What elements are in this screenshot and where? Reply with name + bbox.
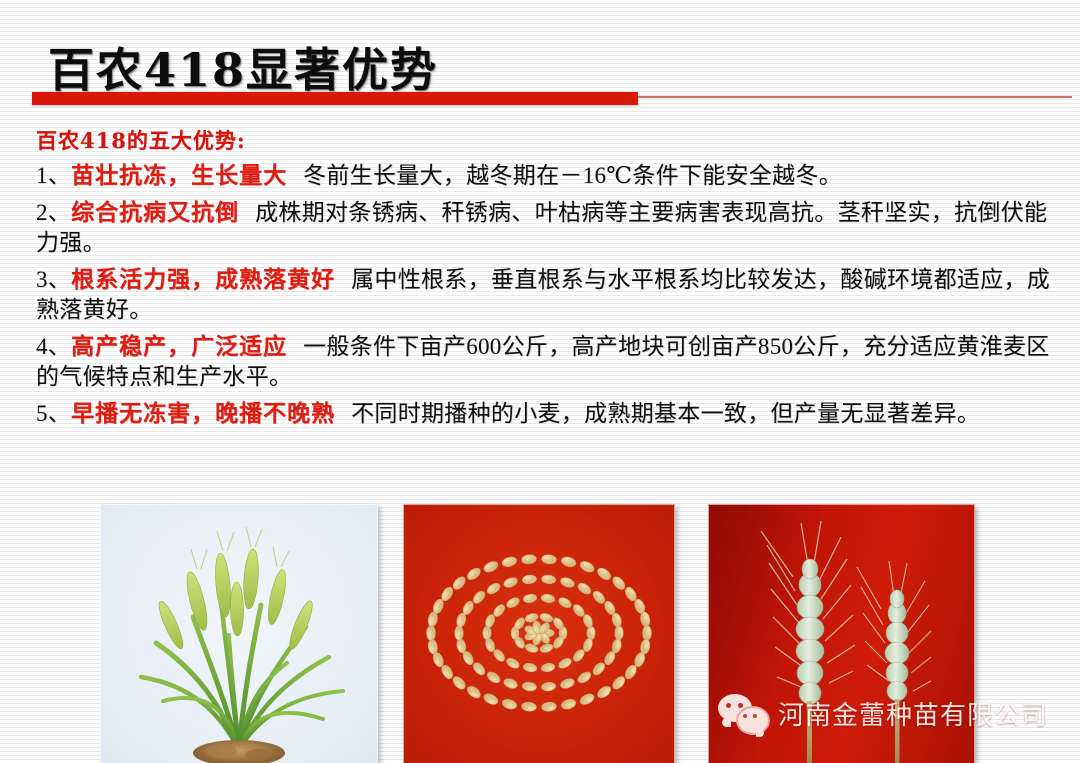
title-underline-rule: [638, 96, 1072, 98]
photo-wheat-ears-pair: [708, 504, 975, 763]
advantage-item-1: 1、苗壮抗冻，生长量大冬前生长量大，越冬期在－16℃条件下能安全越冬。: [36, 161, 1066, 191]
wheat-ears-illustration: [709, 505, 974, 763]
grain-rosette-illustration: [404, 505, 674, 763]
advantage-number-1: 1、: [36, 163, 71, 188]
advantage-number-5: 5、: [36, 401, 71, 426]
advantage-keyword-3: 根系活力强，成熟落黄好: [71, 267, 335, 292]
photo-wheat-plant-clump: [100, 504, 378, 763]
advantage-number-2: 2、: [36, 200, 71, 225]
photo-wheat-grains-rosette: [403, 504, 675, 763]
body-text-block: 百农418的五大优势: 1、苗壮抗冻，生长量大冬前生长量大，越冬期在－16℃条件…: [36, 128, 1066, 436]
subtitle: 百农418的五大优势:: [36, 128, 1066, 154]
advantage-number-4: 4、: [36, 334, 71, 359]
advantage-item-5: 5、早播无冻害，晚播不晚熟不同时期播种的小麦，成熟期基本一致，但产量无显著差异。: [36, 399, 1066, 429]
advantage-text-1: 冬前生长量大，越冬期在－16℃条件下能安全越冬。: [303, 163, 842, 188]
advantage-item-2: 2、综合抗病又抗倒成株期对条锈病、秆锈病、叶枯病等主要病害表现高抗。茎秆坚实，抗…: [36, 198, 1066, 258]
photo-strip: [0, 504, 1080, 763]
page-title: 百农418显著优势: [48, 34, 438, 100]
title-underline-bar: [32, 92, 638, 105]
advantage-number-3: 3、: [36, 267, 71, 292]
slide-canvas: 百农418显著优势 百农418的五大优势: 1、苗壮抗冻，生长量大冬前生长量大，…: [0, 0, 1080, 763]
wheat-plant-illustration: [101, 505, 377, 763]
advantage-keyword-5: 早播无冻害，晚播不晚熟: [71, 401, 335, 426]
advantage-keyword-4: 高产稳产，广泛适应: [71, 334, 287, 359]
advantage-keyword-2: 综合抗病又抗倒: [71, 200, 239, 225]
advantage-keyword-1: 苗壮抗冻，生长量大: [71, 163, 287, 188]
advantage-text-5: 不同时期播种的小麦，成熟期基本一致，但产量无显著差异。: [351, 401, 980, 426]
advantage-item-4: 4、高产稳产，广泛适应一般条件下亩产600公斤，高产地块可创亩产850公斤，充分…: [36, 332, 1066, 392]
advantage-item-3: 3、根系活力强，成熟落黄好属中性根系，垂直根系与水平根系均比较发达，酸碱环境都适…: [36, 265, 1066, 325]
